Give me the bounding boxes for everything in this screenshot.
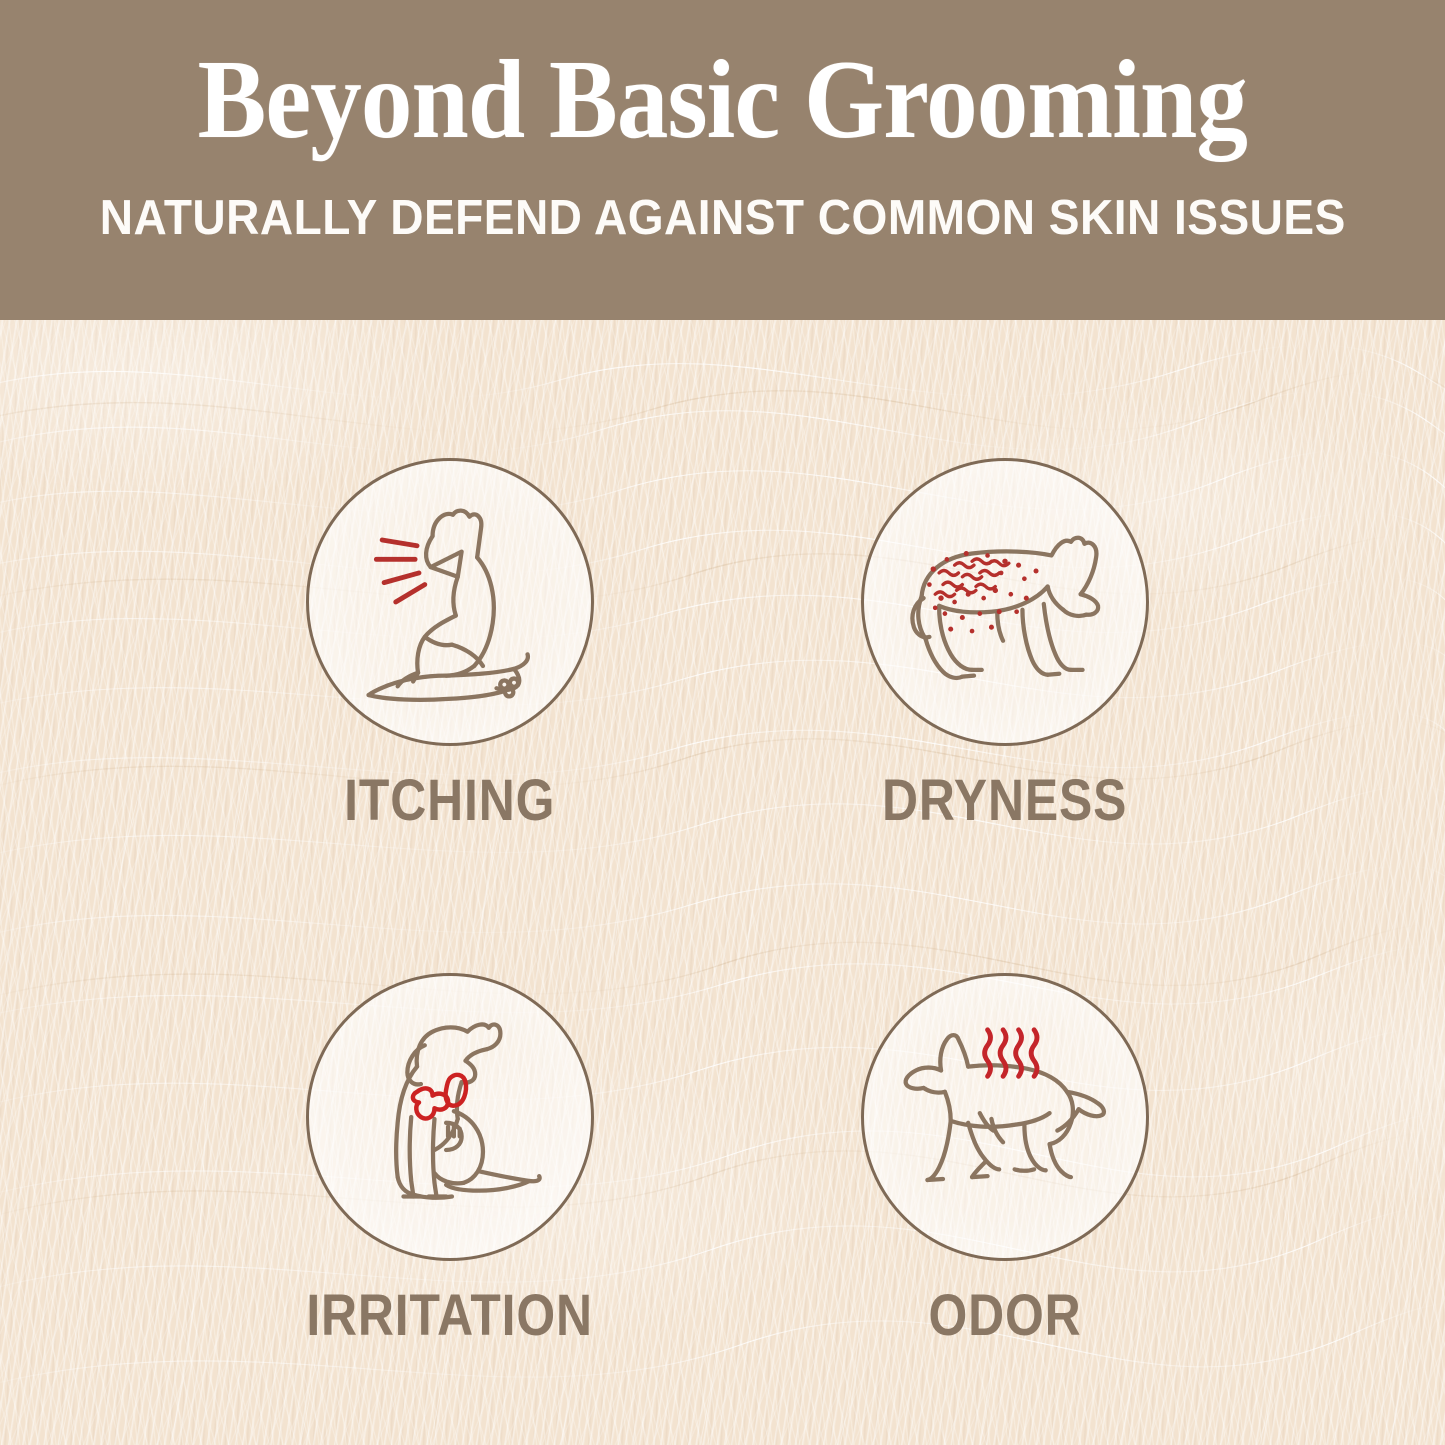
benefit-label-irritation: IRRITATION bbox=[307, 1287, 594, 1345]
dog-odor-icon bbox=[879, 991, 1131, 1243]
benefit-icon-grid: ITCHING bbox=[0, 320, 1445, 1445]
poster-header: Beyond Basic Grooming NATURALLY DEFEND A… bbox=[0, 0, 1445, 320]
grooming-infographic-poster: Beyond Basic Grooming NATURALLY DEFEND A… bbox=[0, 0, 1445, 1445]
benefit-label-itching: ITCHING bbox=[344, 772, 555, 830]
benefit-label-dryness: DRYNESS bbox=[882, 772, 1127, 830]
benefit-badge-dryness bbox=[861, 458, 1149, 746]
benefit-item-odor[interactable]: ODOR bbox=[790, 973, 1220, 1345]
page-title: Beyond Basic Grooming bbox=[198, 44, 1247, 156]
dog-scratching-icon bbox=[324, 476, 576, 728]
benefit-item-itching[interactable]: ITCHING bbox=[235, 458, 665, 830]
benefit-item-irritation[interactable]: IRRITATION bbox=[235, 973, 665, 1345]
benefit-badge-itching bbox=[306, 458, 594, 746]
benefit-badge-odor bbox=[861, 973, 1149, 1261]
dog-irritated-skin-icon bbox=[324, 991, 576, 1243]
benefit-item-dryness[interactable]: DRYNESS bbox=[790, 458, 1220, 830]
benefit-label-odor: ODOR bbox=[928, 1287, 1081, 1345]
dog-dry-flaky-skin-icon bbox=[879, 476, 1131, 728]
page-subtitle: NATURALLY DEFEND AGAINST COMMON SKIN ISS… bbox=[100, 194, 1346, 243]
benefit-badge-irritation bbox=[306, 973, 594, 1261]
